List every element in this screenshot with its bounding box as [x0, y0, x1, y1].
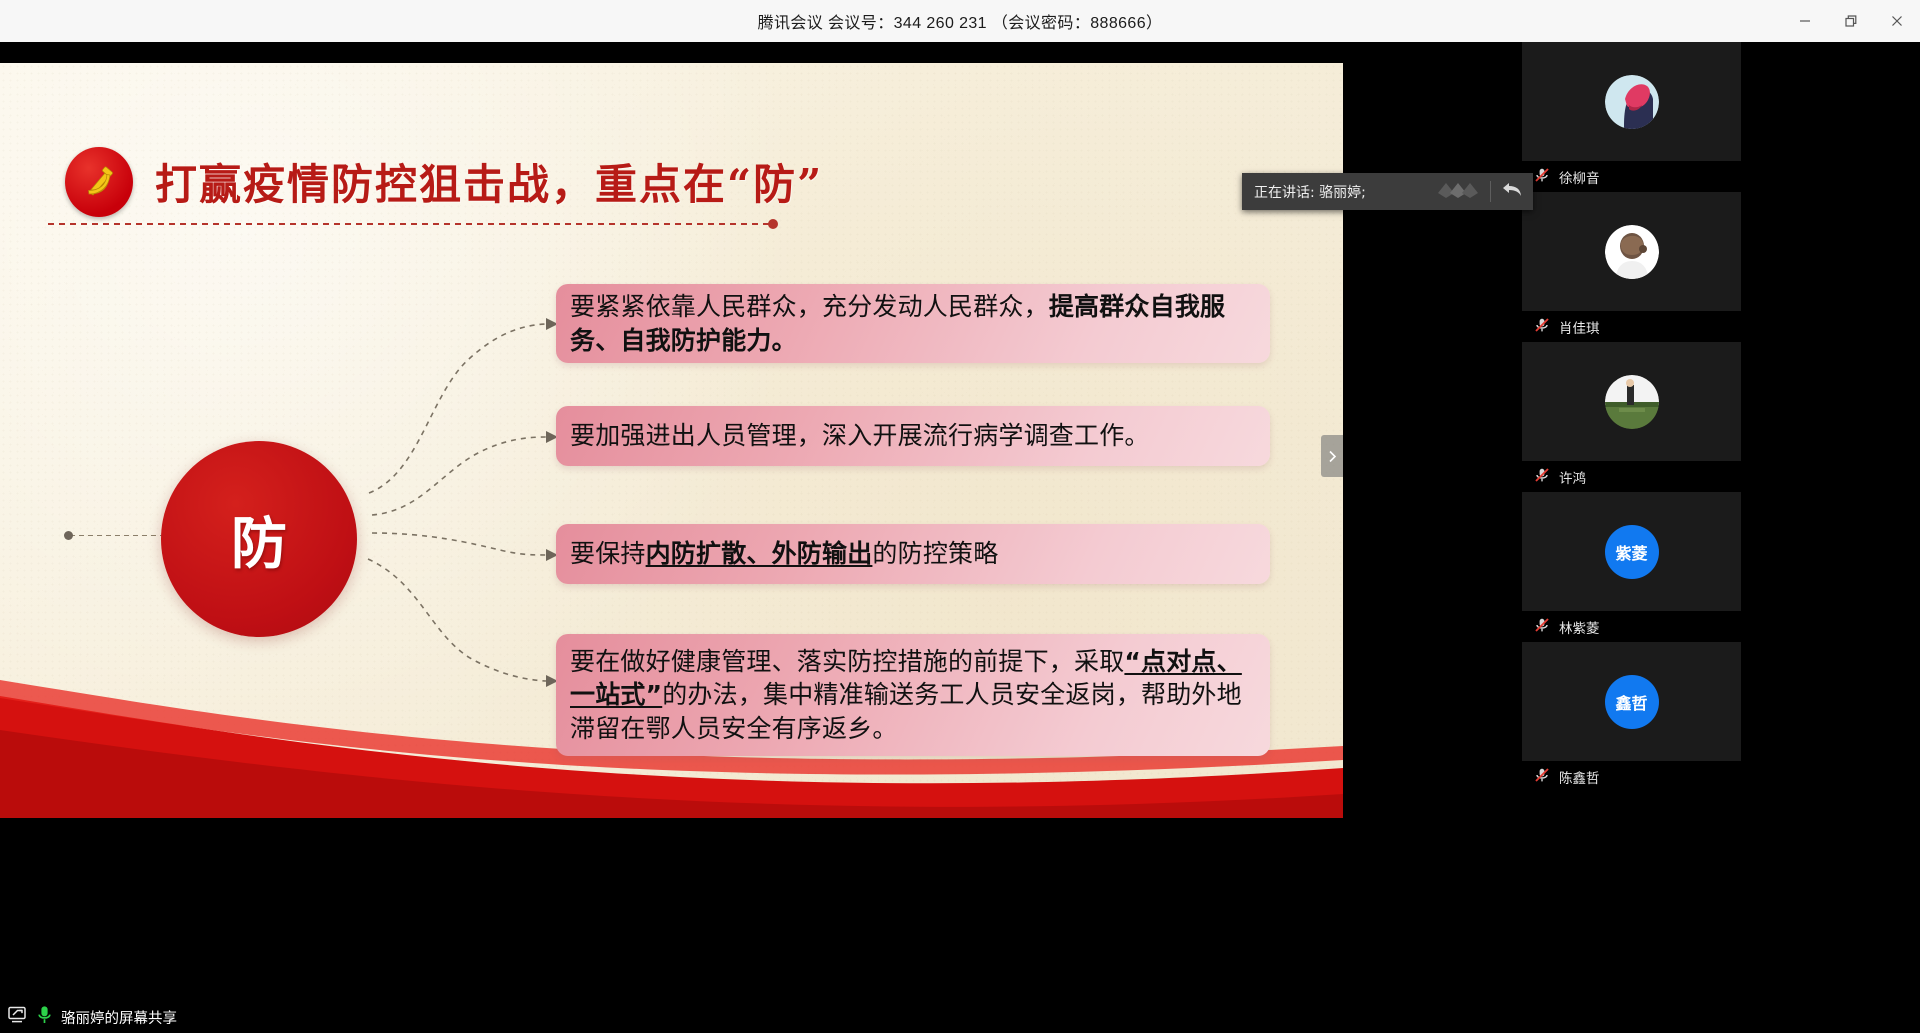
- slide-card-text: 要保持内防扩散、外防输出的防控策略: [556, 537, 1012, 570]
- avatar: [1605, 225, 1659, 279]
- shared-screen-stage[interactable]: 打赢疫情防控狙击战，重点在“防”: [0, 63, 1343, 818]
- participant-item[interactable]: 肖佳琪: [1522, 192, 1741, 342]
- microphone-active-icon[interactable]: [37, 1005, 52, 1030]
- window-title: 腾讯会议 会议号：344 260 231 （会议密码：888666）: [758, 9, 1163, 33]
- slide-card: 要紧紧依靠人民群众，充分发动人民群众，提高群众自我服务、自我防护能力。: [556, 284, 1270, 363]
- meeting-main-area: 打赢疫情防控狙击战，重点在“防”: [0, 42, 1920, 1033]
- participant-item[interactable]: 鑫哲 陈鑫哲: [1522, 642, 1741, 792]
- slide-card-text: 要在做好健康管理、落实防控措施的前提下，采取“点对点、一站式”的办法，集中精准输…: [556, 645, 1270, 745]
- close-button[interactable]: [1874, 0, 1920, 42]
- minimize-button[interactable]: [1782, 0, 1828, 42]
- minimize-icon: [1798, 14, 1812, 28]
- participant-video-tile[interactable]: 紫菱: [1522, 492, 1741, 612]
- participant-name: 许鸿: [1559, 467, 1586, 487]
- participant-video-tile[interactable]: [1522, 192, 1741, 312]
- participant-name: 陈鑫哲: [1559, 767, 1600, 787]
- restore-button[interactable]: [1828, 0, 1874, 42]
- slide-card-text: 要加强进出人员管理，深入开展流行病学调查工作。: [556, 419, 1164, 452]
- avatar: [1605, 75, 1659, 129]
- restore-icon: [1844, 14, 1858, 28]
- participant-item[interactable]: 许鸿: [1522, 342, 1741, 492]
- diagram-hub-node: 防: [161, 441, 357, 637]
- participant-name: 肖佳琪: [1559, 317, 1600, 337]
- participant-name-row: 许鸿: [1522, 462, 1741, 492]
- slide-card: 要加强进出人员管理，深入开展流行病学调查工作。: [556, 406, 1270, 466]
- hub-label: 防: [231, 499, 287, 580]
- window-controls: [1782, 0, 1920, 42]
- hub-lead-line: [70, 535, 162, 536]
- party-emblem-icon: [65, 147, 133, 217]
- participant-name-row: 肖佳琪: [1522, 312, 1741, 342]
- participant-item[interactable]: 徐柳音: [1522, 42, 1741, 192]
- participant-video-tile[interactable]: [1522, 342, 1741, 462]
- close-icon: [1890, 14, 1904, 28]
- participant-name-row: 陈鑫哲: [1522, 762, 1741, 792]
- slide-title: 打赢疫情防控狙击战，重点在“防”: [155, 151, 823, 212]
- share-status-text: 骆丽婷的屏幕共享: [61, 1007, 177, 1028]
- hub-lead-dot: [64, 531, 73, 540]
- slide-card-text: 要紧紧依靠人民群众，充分发动人民群众，提高群众自我服务、自我防护能力。: [556, 290, 1270, 357]
- participant-name: 徐柳音: [1559, 167, 1600, 187]
- expand-panel-button[interactable]: [1321, 435, 1343, 477]
- speaking-tooltip: 正在讲话: 骆丽婷;: [1242, 173, 1533, 210]
- mic-muted-icon[interactable]: [1534, 767, 1550, 788]
- connector-1: [369, 324, 546, 493]
- mic-muted-icon[interactable]: [1534, 467, 1550, 488]
- participant-name: 林紫菱: [1559, 617, 1600, 637]
- mic-muted-icon[interactable]: [1534, 617, 1550, 638]
- reply-arrow-icon[interactable]: [1501, 180, 1523, 203]
- slide-card: 要保持内防扩散、外防输出的防控策略: [556, 524, 1270, 584]
- participant-name-row: 徐柳音: [1522, 162, 1741, 192]
- participant-video-tile[interactable]: 鑫哲: [1522, 642, 1741, 762]
- avatar: 紫菱: [1605, 525, 1659, 579]
- title-rule-end-dot: [768, 219, 778, 229]
- chevron-right-icon: [1328, 450, 1337, 463]
- speaking-tooltip-text: 正在讲话: 骆丽婷;: [1254, 182, 1436, 202]
- avatar: [1605, 375, 1659, 429]
- title-underline-rule: [48, 223, 776, 225]
- slide-card: 要在做好健康管理、落实防控措施的前提下，采取“点对点、一站式”的办法，集中精准输…: [556, 634, 1270, 756]
- participant-video-tile[interactable]: [1522, 42, 1741, 162]
- share-status-bar: 骆丽婷的屏幕共享: [0, 1002, 1343, 1033]
- screen-share-icon: [8, 1006, 28, 1029]
- avatar: 鑫哲: [1605, 675, 1659, 729]
- presentation-slide: 打赢疫情防控狙击战，重点在“防”: [0, 63, 1343, 818]
- participant-list: 徐柳音 肖佳琪 许鸿紫菱: [1343, 42, 1920, 792]
- mic-muted-icon[interactable]: [1534, 317, 1550, 338]
- window-titlebar: 腾讯会议 会议号：344 260 231 （会议密码：888666）: [0, 0, 1920, 42]
- participant-item[interactable]: 紫菱 林紫菱: [1522, 492, 1741, 642]
- mic-muted-icon[interactable]: [1534, 167, 1550, 188]
- double-chevron-icon[interactable]: [1436, 179, 1480, 204]
- hammer-sickle-icon: [78, 161, 120, 203]
- tooltip-divider: [1490, 181, 1491, 202]
- participant-name-row: 林紫菱: [1522, 612, 1741, 642]
